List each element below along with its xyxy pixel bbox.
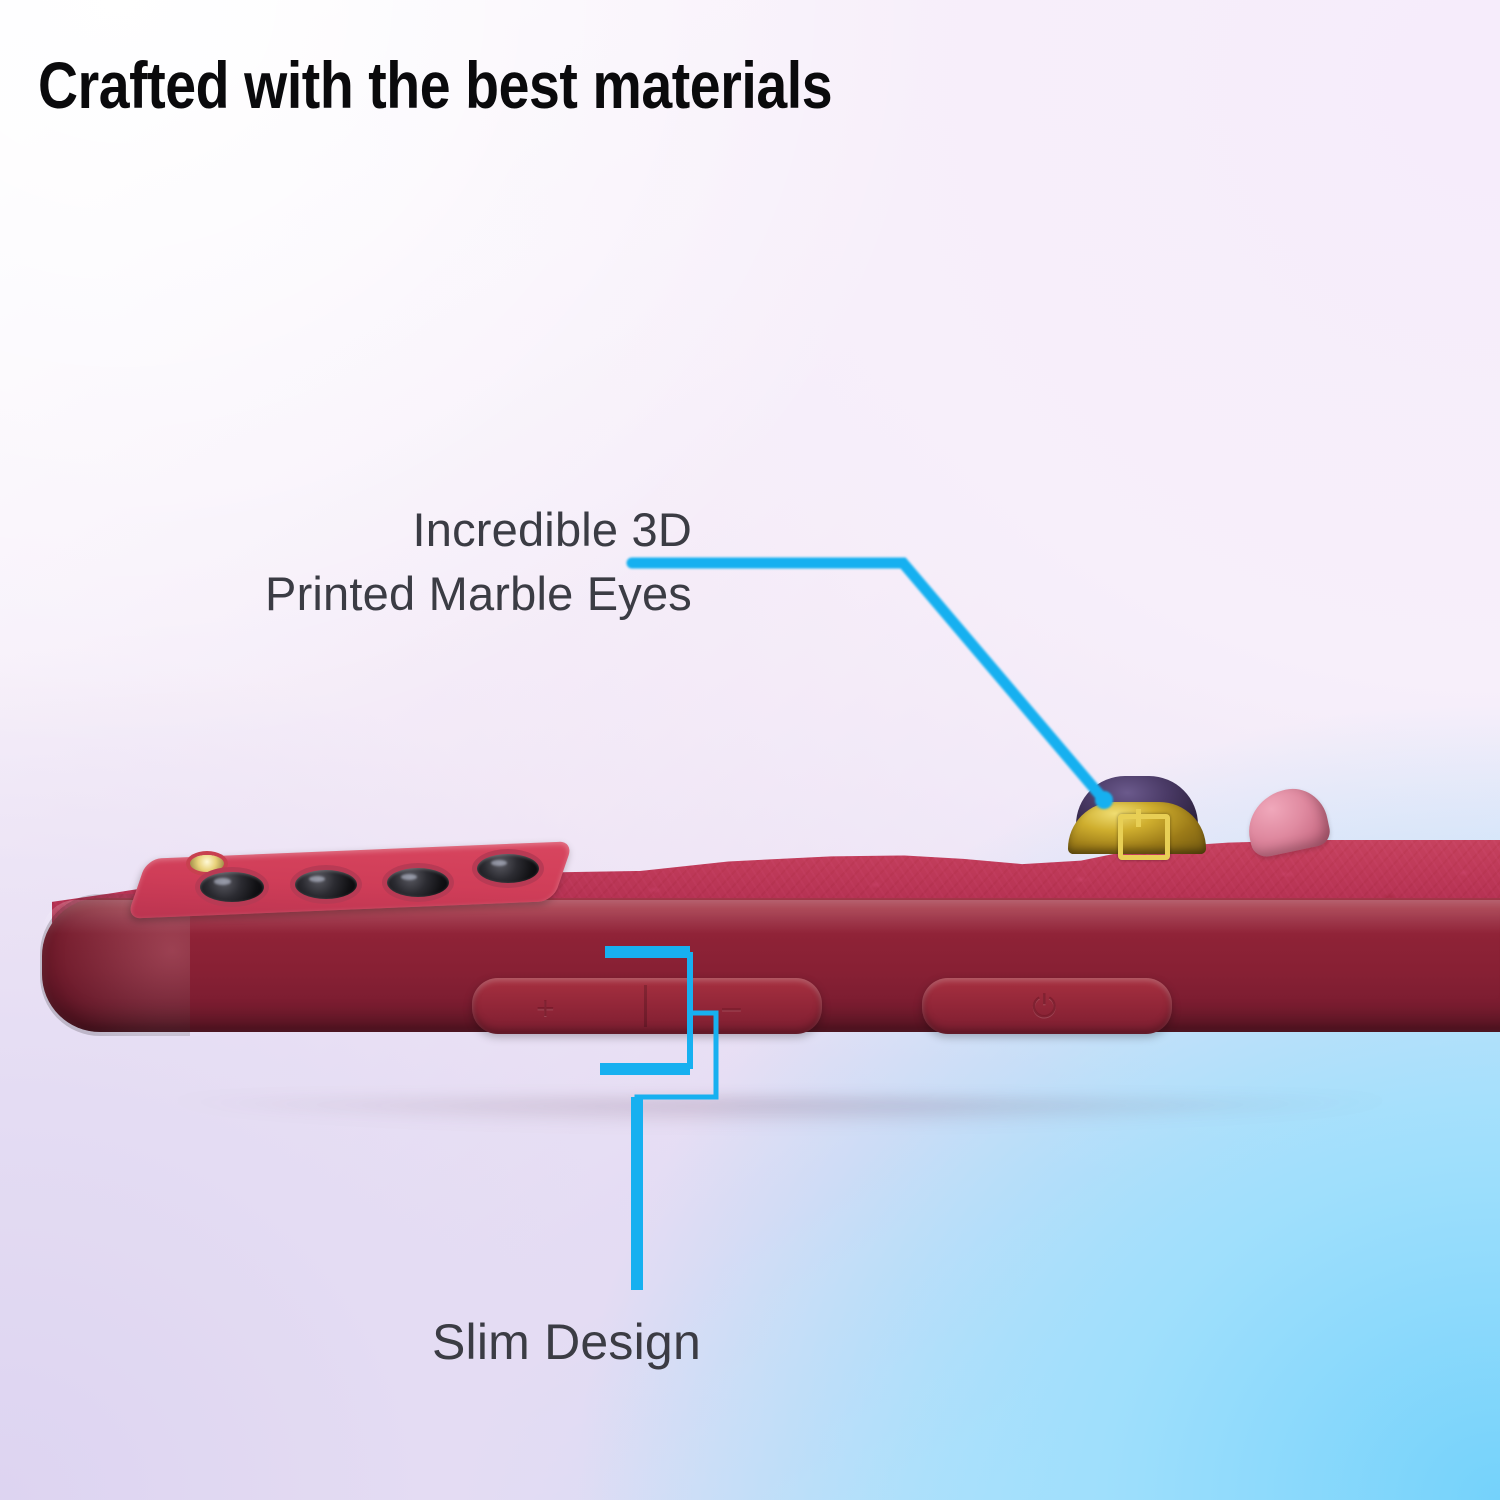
- marble-eye-buckle-detail: [1118, 814, 1170, 860]
- camera-lens-2: [295, 870, 357, 899]
- volume-rocker-button[interactable]: + –: [472, 978, 822, 1034]
- power-button[interactable]: ⏻: [922, 978, 1172, 1034]
- camera-lens-3: [387, 868, 449, 897]
- callout-label-marble-eyes: Incredible 3D Printed Marble Eyes: [162, 498, 692, 626]
- camera-flash: [190, 855, 224, 872]
- pointer-marble-eyes: [632, 563, 1113, 809]
- page-title: Crafted with the best materials: [38, 52, 832, 118]
- camera-lens-1: [200, 872, 264, 902]
- product-infographic: Crafted with the best materials Incredib…: [0, 0, 1500, 1500]
- volume-rocker-divider: [644, 985, 647, 1028]
- power-icon: ⏻: [1032, 991, 1057, 1022]
- callout-pointers: [0, 0, 1500, 1500]
- volume-up-icon: +: [536, 992, 555, 1024]
- marble-eye: [1062, 776, 1212, 854]
- volume-down-icon: –: [722, 990, 741, 1024]
- camera-lens-4: [477, 854, 539, 883]
- callout-label-slim-design: Slim Design: [432, 1308, 701, 1376]
- phone-case: + – ⏻: [42, 828, 1500, 1128]
